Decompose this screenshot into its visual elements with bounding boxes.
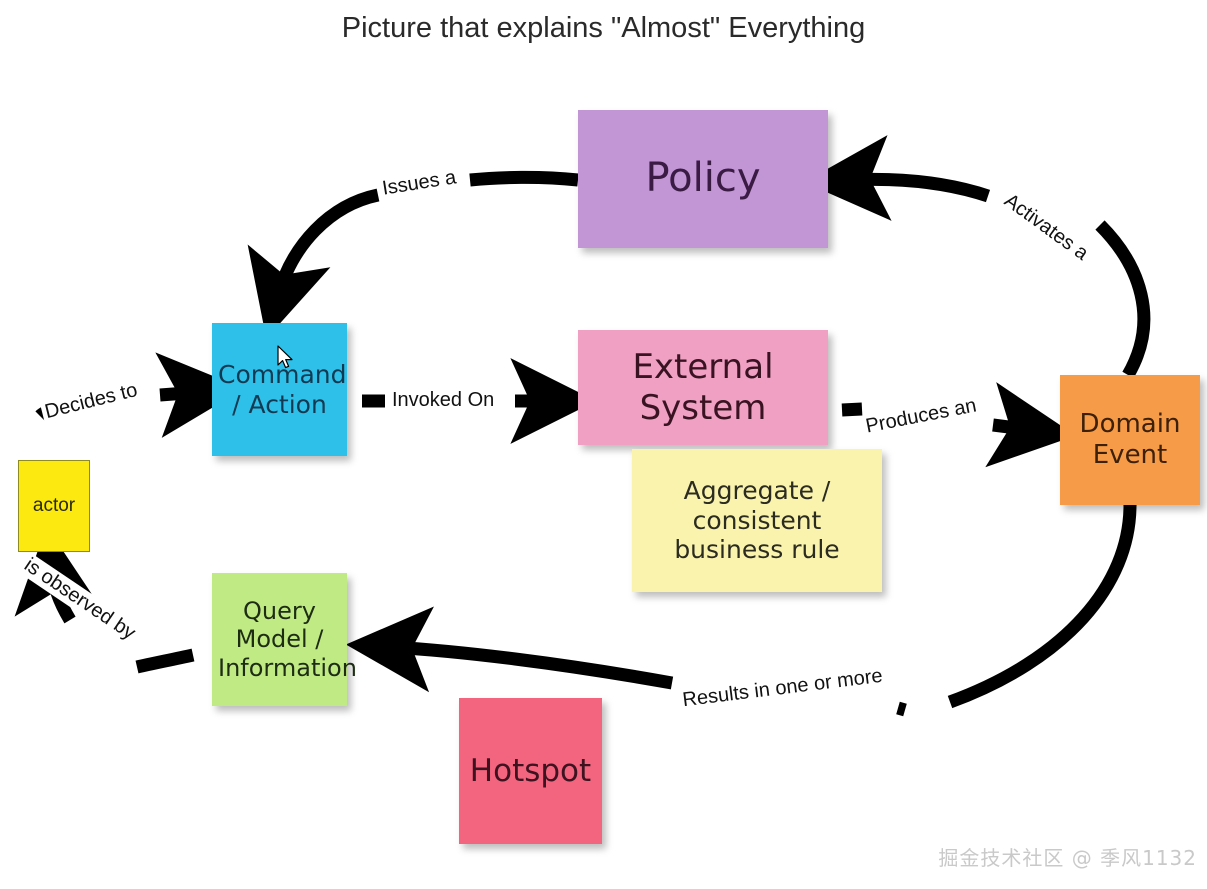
sticky-note-domain-event[interactable]: Domain Event [1060, 375, 1200, 505]
diagram-canvas: Picture that explains "Almost" Everythin… [0, 0, 1207, 889]
sticky-note-policy-label: Policy [584, 155, 822, 202]
mouse-pointer-icon [277, 345, 294, 370]
watermark: 掘金技术社区 @ 季风1132 [938, 842, 1197, 871]
sticky-note-policy[interactable]: Policy [578, 110, 828, 248]
sticky-note-aggregate[interactable]: Aggregate / consistent business rule [632, 449, 882, 592]
sticky-note-domain-event-label: Domain Event [1066, 409, 1194, 470]
edge-activates-a [848, 179, 1144, 375]
sticky-note-command[interactable]: Command / Action [212, 323, 347, 456]
actor-box[interactable]: actor [18, 460, 90, 552]
sticky-note-query-model[interactable]: Query Model / Information [212, 573, 347, 706]
sticky-note-aggregate-label: Aggregate / consistent business rule [638, 476, 876, 565]
sticky-note-query-model-label: Query Model / Information [218, 597, 341, 682]
sticky-note-hotspot-label: Hotspot [465, 753, 596, 790]
edge-issues-a [278, 177, 578, 296]
actor-box-label: actor [33, 495, 75, 517]
edge-label-invoked-on: Invoked On [389, 389, 497, 412]
sticky-note-hotspot[interactable]: Hotspot [459, 698, 602, 844]
sticky-note-external-system-label: External System [584, 347, 822, 427]
sticky-note-external-system[interactable]: External System [578, 330, 828, 445]
